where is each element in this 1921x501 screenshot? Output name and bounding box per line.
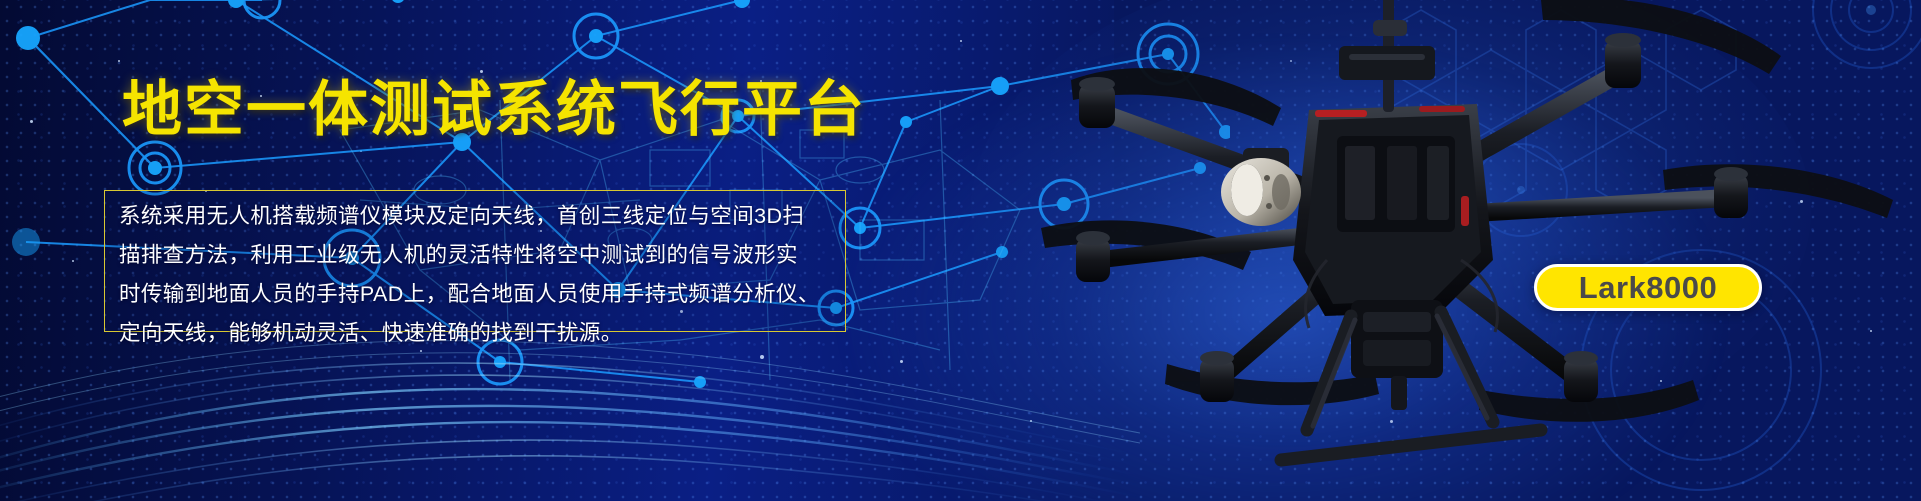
promo-banner: 地空一体测试系统飞行平台 系统采用无人机搭载频谱仪模块及定向天线，首创三线定位与…: [0, 0, 1921, 501]
description-line-2: 描排查方法，利用工业级无人机的灵活特性将空中测试到的信号波形实: [119, 236, 831, 275]
description-line-4: 定向天线，能够机动灵活、快速准确的找到干扰源。: [119, 314, 831, 353]
description-line-1: 系统采用无人机搭载频谱仪模块及定向天线，首创三线定位与空间3D扫: [119, 197, 831, 236]
description-box: 系统采用无人机搭载频谱仪模块及定向天线，首创三线定位与空间3D扫 描排查方法，利…: [104, 190, 846, 332]
product-model-badge: Lark8000: [1534, 264, 1762, 311]
drone-photo: [921, 0, 1921, 501]
page-title: 地空一体测试系统飞行平台: [122, 78, 866, 142]
description-line-3: 时传输到地面人员的手持PAD上，配合地面人员使用手持式频谱分析仪、: [119, 275, 831, 314]
